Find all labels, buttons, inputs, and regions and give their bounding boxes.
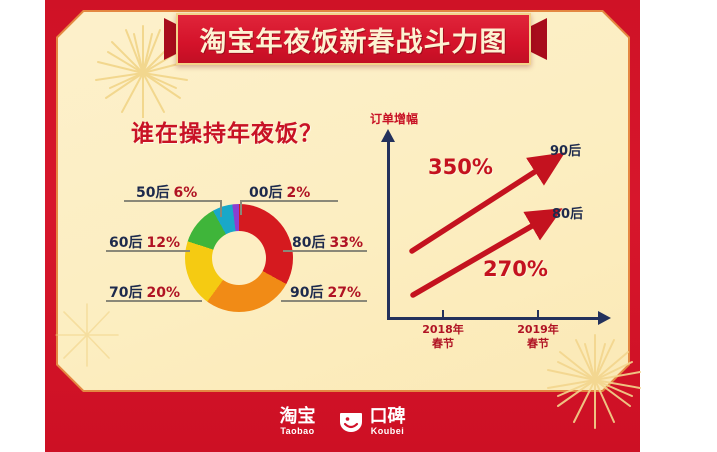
pie-label-50: 50后6% bbox=[136, 182, 197, 202]
growth-value-80: 270% bbox=[483, 257, 548, 281]
series-label-90: 90后 bbox=[550, 140, 581, 159]
x-axis-label-2018-line2: 春节 bbox=[412, 337, 474, 351]
title-banner: 淘宝年夜饭新春战斗力图 bbox=[176, 13, 531, 65]
pie-label-60-name: 60后 bbox=[109, 235, 142, 251]
pie-label-70-name: 70后 bbox=[109, 285, 142, 301]
donut-chart-heading: 谁在操持年夜饭？ bbox=[131, 114, 323, 148]
pie-label-70-pct: 20% bbox=[146, 285, 180, 301]
pie-label-80: 80后33% bbox=[292, 232, 363, 252]
pie-label-50-name: 50后 bbox=[136, 185, 169, 201]
koubei-smile-icon bbox=[338, 410, 364, 434]
poster-title: 淘宝年夜饭新春战斗力图 bbox=[200, 20, 508, 59]
leader-tick-50 bbox=[220, 200, 222, 217]
series-label-80: 80后 bbox=[552, 203, 583, 222]
taobao-logo-cn: 淘宝 bbox=[280, 408, 316, 426]
x-axis-label-2019: 2019年 春节 bbox=[507, 323, 569, 351]
x-axis-label-2019-line2: 春节 bbox=[507, 337, 569, 351]
pie-label-60-pct: 12% bbox=[146, 235, 180, 251]
leader-tick-00 bbox=[240, 200, 242, 215]
pie-label-90: 90后27% bbox=[290, 282, 361, 302]
pie-label-50-pct: 6% bbox=[173, 185, 197, 201]
pie-label-60: 60后12% bbox=[109, 232, 180, 252]
x-axis-label-2018: 2018年 春节 bbox=[412, 323, 474, 351]
donut-chart bbox=[185, 204, 293, 312]
pie-label-00-name: 00后 bbox=[249, 185, 282, 201]
pie-label-00: 00后2% bbox=[249, 182, 310, 202]
taobao-logo[interactable]: 淘宝 Taobao bbox=[280, 408, 316, 437]
x-axis-label-2018-line1: 2018年 bbox=[412, 323, 474, 337]
growth-arrows bbox=[387, 139, 602, 319]
donut-hole bbox=[212, 231, 266, 285]
x-axis-label-2019-line1: 2019年 bbox=[507, 323, 569, 337]
y-axis-label: 订单增幅 bbox=[370, 110, 418, 127]
footer-logos: 淘宝 Taobao 口碑 Koubei bbox=[45, 392, 640, 452]
koubei-logo[interactable]: 口碑 Koubei bbox=[338, 408, 406, 437]
pie-label-80-pct: 33% bbox=[329, 235, 363, 251]
pie-label-90-name: 90后 bbox=[290, 285, 323, 301]
growth-value-90: 350% bbox=[428, 155, 493, 179]
infographic-poster: 淘宝年夜饭新春战斗力图 谁在操持年夜饭？ 50后6% 00后2% 60后12% … bbox=[0, 0, 717, 452]
pie-label-80-name: 80后 bbox=[292, 235, 325, 251]
pie-label-70: 70后20% bbox=[109, 282, 180, 302]
koubei-logo-cn: 口碑 bbox=[370, 408, 406, 426]
pie-label-90-pct: 27% bbox=[327, 285, 361, 301]
taobao-logo-en: Taobao bbox=[280, 426, 314, 437]
pie-label-00-pct: 2% bbox=[286, 185, 310, 201]
koubei-logo-en: Koubei bbox=[371, 426, 405, 437]
